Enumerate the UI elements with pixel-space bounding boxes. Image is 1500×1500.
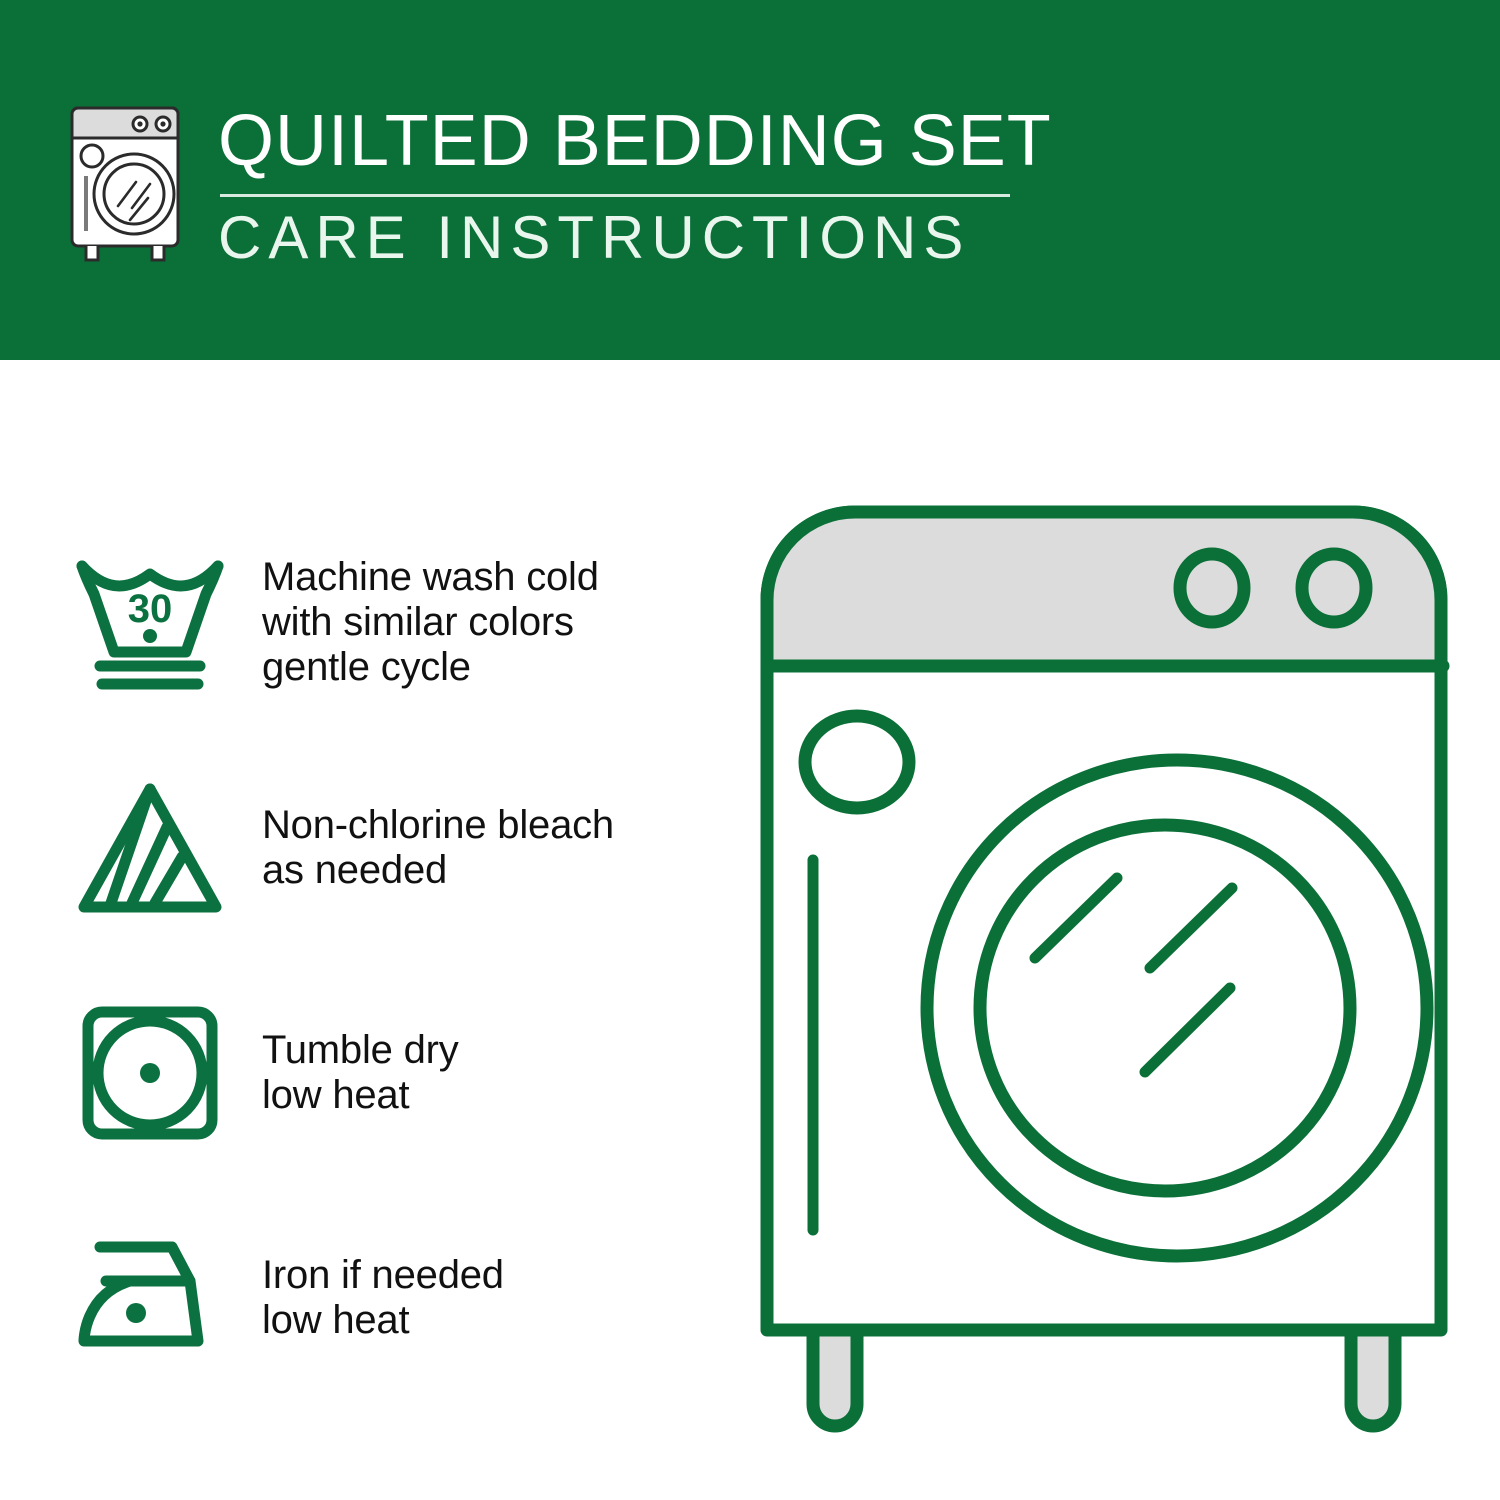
instruction-label-tumble-dry: Tumble dry low heat — [240, 1028, 459, 1118]
washer-leg-left — [813, 1330, 857, 1426]
instruction-label-iron: Iron if needed low heat — [240, 1253, 504, 1343]
tumble-dry-low-heat-icon — [70, 998, 240, 1148]
instruction-row-iron: Iron if needed low heat — [70, 1185, 720, 1410]
washer-control-panel — [767, 512, 1441, 666]
title-divider — [220, 194, 1010, 197]
tumble-dry-dot-icon — [140, 1063, 160, 1083]
front-load-washing-machine-illustration — [745, 490, 1465, 1450]
instruction-label-bleach: Non-chlorine bleach as needed — [240, 803, 614, 893]
instruction-row-bleach: Non-chlorine bleach as needed — [70, 735, 720, 960]
instruction-row-tumble-dry: Tumble dry low heat — [70, 960, 720, 1185]
label-line: Tumble dry — [262, 1028, 459, 1073]
label-line: as needed — [262, 848, 614, 893]
header-inner: QUILTED BEDDING SET CARE INSTRUCTIONS — [60, 96, 1052, 269]
header-text-block: QUILTED BEDDING SET CARE INSTRUCTIONS — [218, 96, 1052, 269]
label-line: with similar colors — [262, 600, 599, 645]
instruction-label-machine-wash: Machine wash cold with similar colors ge… — [240, 555, 599, 690]
care-instruction-list: 30 Machine wash cold with similar colors… — [70, 510, 720, 1410]
page-subtitle: CARE INSTRUCTIONS — [218, 207, 1052, 269]
washer-leg-right — [1351, 1330, 1395, 1426]
label-line: low heat — [262, 1298, 504, 1343]
content-area: 30 Machine wash cold with similar colors… — [0, 360, 1500, 1500]
wash-tub-30-gentle-icon: 30 — [70, 548, 240, 698]
label-line: Machine wash cold — [262, 555, 599, 600]
label-line: Iron if needed — [262, 1253, 504, 1298]
label-line: low heat — [262, 1073, 459, 1118]
page-title: QUILTED BEDDING SET — [218, 104, 1052, 178]
iron-low-heat-icon — [70, 1233, 240, 1363]
label-line: Non-chlorine bleach — [262, 803, 614, 848]
triangle-non-chlorine-bleach-icon — [70, 773, 240, 923]
label-line: gentle cycle — [262, 645, 599, 690]
washing-machine-icon — [60, 96, 190, 266]
instruction-row-machine-wash: 30 Machine wash cold with similar colors… — [70, 510, 720, 735]
wash-temperature-label: 30 — [128, 587, 173, 631]
header-band: QUILTED BEDDING SET CARE INSTRUCTIONS — [0, 0, 1500, 360]
wash-dot-icon — [143, 629, 157, 643]
iron-dot-icon — [126, 1303, 146, 1323]
